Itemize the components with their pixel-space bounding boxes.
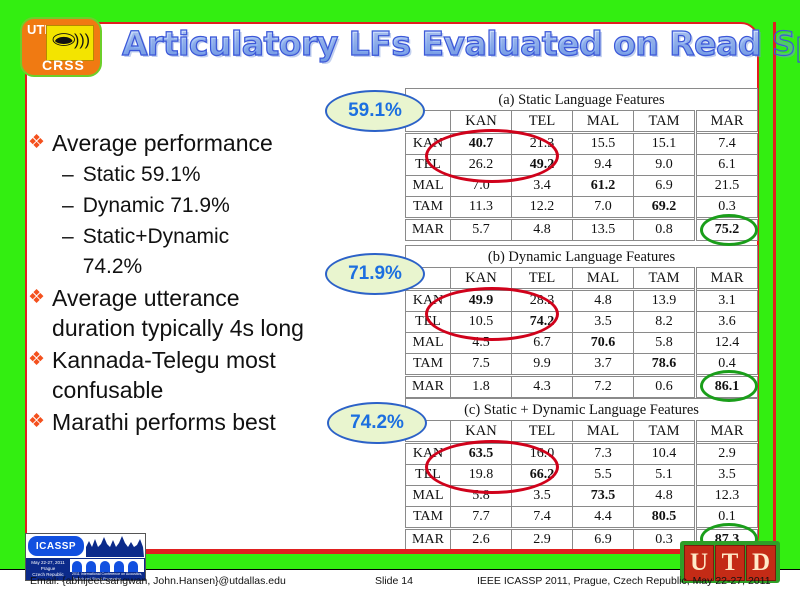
table-cell: 10.4 — [634, 443, 696, 465]
table-cell: 4.3 — [512, 376, 573, 398]
list-item: – Static+Dynamic 74.2% — [62, 222, 348, 282]
table-cell: 73.5 — [573, 486, 634, 507]
footer-conference: IEEE ICASSP 2011, Prague, Czech Republic… — [477, 575, 771, 587]
column-header: KAN — [451, 268, 512, 290]
column-header: TAM — [634, 268, 696, 290]
callout-combined-average: 74.2% — [327, 402, 427, 444]
green-highlight-ellipse-dynamic — [700, 370, 758, 402]
table-cell: 13.5 — [573, 219, 634, 241]
footer-email: Email: {abhijeet.sangwan, John.Hansen}@u… — [30, 575, 286, 587]
table-cell: 0.6 — [634, 376, 696, 398]
table-cell: 6.9 — [573, 529, 634, 551]
prague-skyline-icon — [86, 535, 144, 557]
table-cell: 0.8 — [634, 219, 696, 241]
table-cell: 7.2 — [573, 376, 634, 398]
column-header: TAM — [634, 421, 696, 443]
row-header: MAL — [406, 333, 451, 354]
table-caption: (c) Static + Dynamic Language Features — [406, 399, 758, 421]
table-cell: 1.8 — [451, 376, 512, 398]
table-row: TAM 11.3 12.2 7.0 69.2 0.3 — [406, 197, 758, 219]
icassp-logo-top: ICASSP — [26, 534, 145, 558]
column-header: MAR — [696, 268, 758, 290]
table-cell: 15.1 — [634, 133, 696, 155]
table-header-row: KAN TEL MAL TAM MAR — [406, 268, 758, 290]
column-header: MAL — [573, 421, 634, 443]
table-cell: 4.8 — [573, 290, 634, 312]
red-highlight-ellipse-dynamic — [425, 287, 559, 341]
red-highlight-ellipse-combined — [425, 440, 559, 494]
list-item-label: Static 59.1% — [83, 160, 201, 190]
list-item: ❖ Average utterance duration typically 4… — [28, 283, 348, 343]
table-cell: 7.5 — [451, 354, 512, 376]
row-header: MAL — [406, 486, 451, 507]
slide-canvas: UTD 🕳 ))) CRSS Articulatory LFs Evaluate… — [0, 0, 800, 598]
list-item-label: Static+Dynamic 74.2% — [83, 222, 288, 282]
column-header: MAL — [573, 111, 634, 133]
table-cell: 11.3 — [451, 197, 512, 219]
table-row: TAM 7.5 9.9 3.7 78.6 0.4 — [406, 354, 758, 376]
table-cell: 3.7 — [573, 354, 634, 376]
table-cell: 2.6 — [451, 529, 512, 551]
list-item-label: Kannada-Telegu most confusable — [52, 345, 327, 405]
table-row: TAM 7.7 7.4 4.4 80.5 0.1 — [406, 507, 758, 529]
callout-dynamic-average: 71.9% — [325, 253, 425, 295]
dash-bullet-icon: – — [62, 222, 74, 252]
diamond-bullet-icon: ❖ — [28, 283, 45, 313]
table-cell: 3.5 — [573, 312, 634, 333]
table-cell: 2.9 — [512, 529, 573, 551]
table-cell: 7.4 — [512, 507, 573, 529]
skyline-svg — [86, 535, 144, 557]
slide-border-red-right — [773, 22, 776, 550]
table-cell: 3.1 — [696, 290, 758, 312]
utd-crss-logo: UTD 🕳 ))) CRSS — [20, 17, 102, 77]
table-cell: 12.3 — [696, 486, 758, 507]
table-cell: 21.5 — [696, 176, 758, 197]
footer-slide-number: Slide 14 — [375, 575, 413, 587]
table-cell: 61.2 — [573, 176, 634, 197]
table-cell: 9.0 — [634, 155, 696, 176]
table-cell: 5.1 — [634, 465, 696, 486]
table-header-row: KAN TEL MAL TAM MAR — [406, 421, 758, 443]
table-cell: 4.8 — [512, 219, 573, 241]
row-header: MAL — [406, 176, 451, 197]
table-cell: 80.5 — [634, 507, 696, 529]
slide-title-wrap: Articulatory LFs Evaluated on Read Speec… — [122, 17, 762, 73]
icassp-logo: ICASSP May 22-27, 2011PragueCzech Republ… — [25, 533, 146, 581]
column-header: MAR — [696, 421, 758, 443]
column-header: KAN — [451, 421, 512, 443]
icassp-logo-badge: ICASSP — [28, 536, 84, 556]
table-cell: 7.7 — [451, 507, 512, 529]
table-cell: 78.6 — [634, 354, 696, 376]
diamond-bullet-icon: ❖ — [28, 345, 45, 375]
list-item-label: Average utterance duration typically 4s … — [52, 283, 307, 343]
red-highlight-ellipse-static — [425, 129, 559, 183]
row-header: MAR — [406, 529, 451, 551]
column-header: TAM — [634, 111, 696, 133]
callout-label: 71.9% — [348, 263, 402, 285]
table-cell: 69.2 — [634, 197, 696, 219]
diamond-bullet-icon: ❖ — [28, 128, 45, 158]
sound-wave-icon: ))) — [74, 32, 90, 50]
table-cell: 5.7 — [451, 219, 512, 241]
bullet-list: ❖ Average performance – Static 59.1% – D… — [28, 128, 348, 439]
column-header: MAL — [573, 268, 634, 290]
utd-crss-logo-crss: CRSS — [42, 57, 85, 73]
table-cell: 12.4 — [696, 333, 758, 354]
dash-bullet-icon: – — [62, 160, 74, 190]
table-caption: (b) Dynamic Language Features — [406, 246, 758, 268]
row-header: MAR — [406, 219, 451, 241]
diamond-bullet-icon: ❖ — [28, 407, 45, 437]
table-cell: 5.8 — [634, 333, 696, 354]
list-item-label: Average performance — [52, 128, 273, 158]
table-cell: 6.1 — [696, 155, 758, 176]
table-cell: 8.2 — [634, 312, 696, 333]
list-item: ❖ Average performance — [28, 128, 348, 158]
table-cell: 4.4 — [573, 507, 634, 529]
utd-crss-logo-emblem: 🕳 ))) — [46, 25, 94, 61]
list-item-label: Marathi performs best — [52, 407, 276, 437]
table-cell: 13.9 — [634, 290, 696, 312]
page-title: Articulatory LFs Evaluated on Read Speec… — [122, 17, 762, 71]
utd-crss-logo-utd: UTD — [27, 22, 43, 38]
table-cell: 9.4 — [573, 155, 634, 176]
table-cell: 15.5 — [573, 133, 634, 155]
dash-bullet-icon: – — [62, 191, 74, 221]
table-cell: 12.2 — [512, 197, 573, 219]
column-header: TEL — [512, 111, 573, 133]
callout-label: 74.2% — [350, 412, 404, 434]
list-item: – Static 59.1% — [62, 160, 348, 190]
column-header: MAR — [696, 111, 758, 133]
list-item: ❖ Kannada-Telegu most confusable — [28, 345, 348, 405]
row-header: TAM — [406, 507, 451, 529]
table-cell: 7.4 — [696, 133, 758, 155]
list-item: ❖ Marathi performs best — [28, 407, 348, 437]
table-cell: 7.3 — [573, 443, 634, 465]
row-header: TAM — [406, 354, 451, 376]
column-header: TEL — [512, 421, 573, 443]
callout-static-average: 59.1% — [325, 90, 425, 132]
table-cell: 70.6 — [573, 333, 634, 354]
table-cell: 9.9 — [512, 354, 573, 376]
table-header-row: KAN TEL MAL TAM MAR — [406, 111, 758, 133]
table-cell: 7.0 — [573, 197, 634, 219]
callout-label: 59.1% — [348, 100, 402, 122]
table-cell: 3.6 — [696, 312, 758, 333]
column-header: TEL — [512, 268, 573, 290]
list-item-label: Dynamic 71.9% — [83, 191, 230, 221]
table-cell: 5.5 — [573, 465, 634, 486]
list-item: – Dynamic 71.9% — [62, 191, 348, 221]
row-header: MAR — [406, 376, 451, 398]
table-cell: 2.9 — [696, 443, 758, 465]
table-caption: (a) Static Language Features — [406, 89, 758, 111]
table-cell: 4.8 — [634, 486, 696, 507]
table-cell: 6.9 — [634, 176, 696, 197]
table-cell: 3.5 — [696, 465, 758, 486]
row-header: TAM — [406, 197, 451, 219]
green-highlight-ellipse-static — [700, 214, 758, 246]
